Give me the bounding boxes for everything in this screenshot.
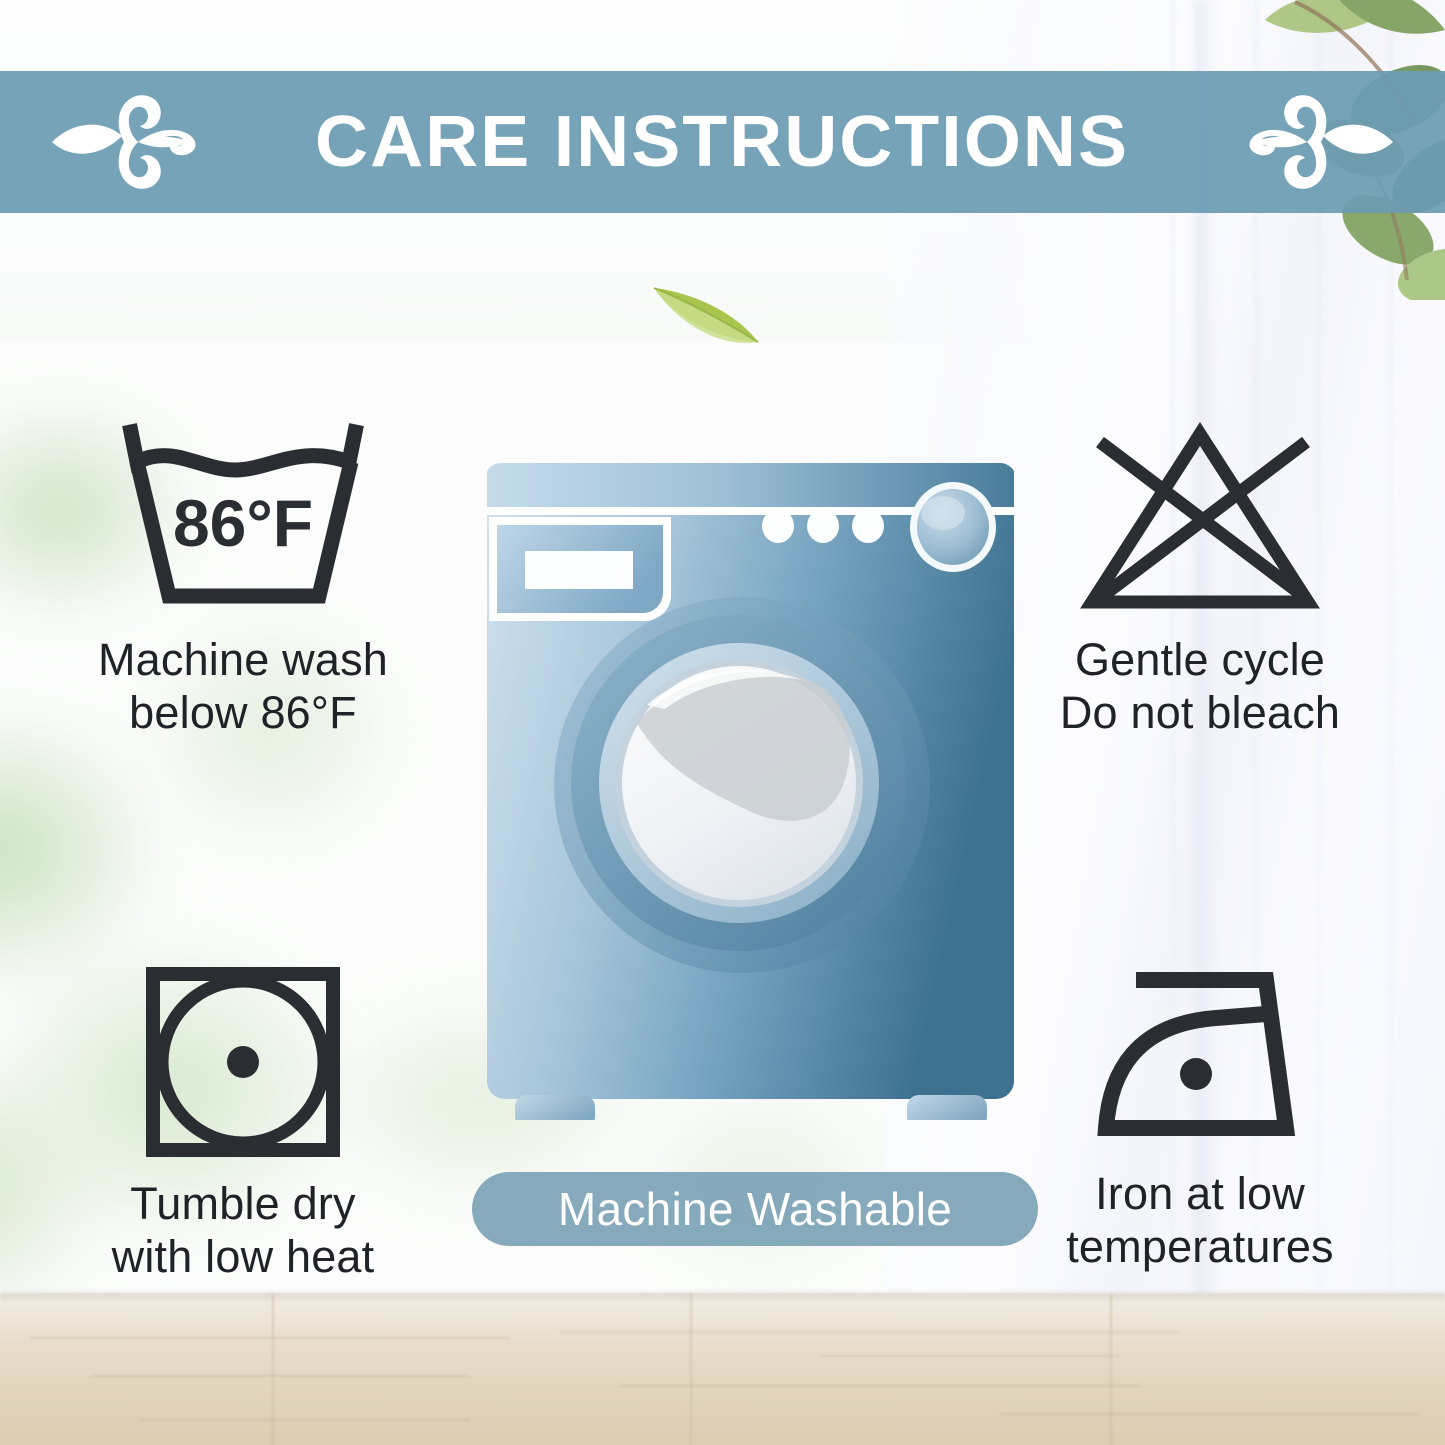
washer-door[interactable] [554, 597, 930, 973]
tumble-dry-square-circle-icon [136, 962, 351, 1162]
machine-foot [515, 1095, 595, 1120]
control-knob[interactable] [910, 482, 996, 572]
wash-temperature-text: 86°F [173, 486, 313, 560]
floating-leaf-icon [650, 282, 762, 348]
indicator-light [807, 509, 839, 543]
care-label-tumble-dry: Tumble dry with low heat [112, 1178, 375, 1283]
indicator-lights [762, 509, 884, 543]
badge-label: Machine Washable [558, 1186, 952, 1232]
care-symbol-tumble-dry: Tumble dry with low heat [28, 962, 458, 1283]
wash-tub-icon: 86°F [113, 418, 373, 618]
fleur-de-lis-svg [52, 90, 202, 194]
crossed-triangle-icon [1070, 418, 1330, 618]
care-instructions-infographic: CARE INSTRUCTIONS 86°F Machine wash belo… [0, 0, 1445, 1445]
care-label-do-not-bleach: Gentle cycle Do not bleach [1060, 634, 1340, 739]
machine-washable-badge: Machine Washable [472, 1172, 1038, 1246]
header-banner: CARE INSTRUCTIONS [0, 71, 1445, 213]
fleur-de-lis-icon [1243, 90, 1393, 194]
table-edge-shadow [0, 1293, 1445, 1302]
fleur-de-lis-icon [52, 90, 202, 194]
machine-foot [907, 1095, 987, 1120]
indicator-light [852, 509, 884, 543]
leaf-svg [650, 282, 762, 348]
care-label-iron: Iron at low temperatures [1066, 1168, 1334, 1273]
wooden-table-surface [0, 1293, 1445, 1445]
iron-icon [1078, 962, 1323, 1152]
washing-machine-svg [487, 455, 1014, 1120]
care-symbol-machine-wash: 86°F Machine wash below 86°F [28, 418, 458, 739]
care-symbol-do-not-bleach: Gentle cycle Do not bleach [985, 418, 1415, 739]
care-label-machine-wash: Machine wash below 86°F [98, 634, 388, 739]
washing-machine-illustration [487, 455, 1014, 1120]
fleur-de-lis-svg [1243, 90, 1393, 194]
drawer-slot [525, 551, 633, 589]
detergent-drawer [489, 517, 671, 621]
care-symbol-iron: Iron at low temperatures [985, 962, 1415, 1273]
page-title: CARE INSTRUCTIONS [316, 106, 1130, 178]
indicator-light [762, 509, 794, 543]
